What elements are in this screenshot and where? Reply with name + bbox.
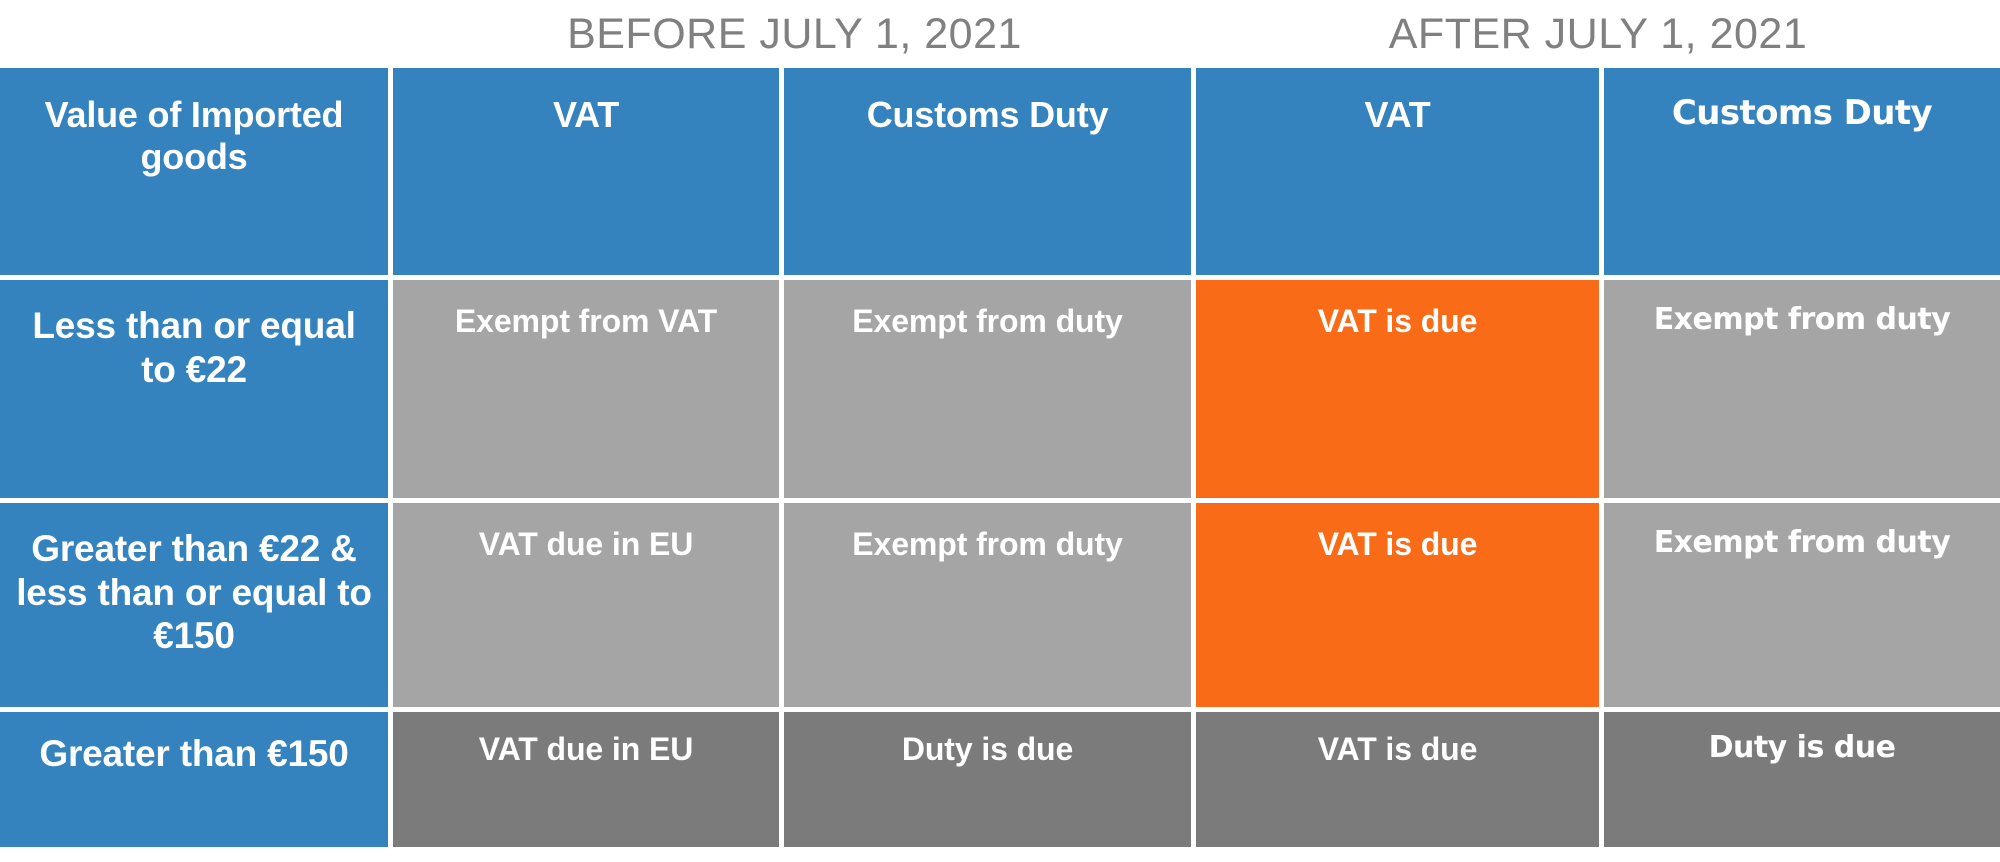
- table-cell: Exempt from VAT: [393, 280, 784, 503]
- group-header-after: AFTER JULY 1, 2021: [1196, 0, 2000, 68]
- cell-text: Exempt from duty: [1604, 280, 2000, 338]
- cell-text: VAT is due: [1196, 280, 1599, 340]
- table-row-label: Less than or equal to €22: [0, 280, 393, 503]
- column-header-label: Value of Imported goods: [0, 68, 388, 178]
- column-header-value-of-imported-goods: Value of Imported goods: [0, 68, 393, 280]
- table-cell: Exempt from duty: [784, 503, 1196, 712]
- table-cell: Duty is due: [784, 712, 1196, 853]
- column-header-customs-duty-after: Customs Duty: [1604, 68, 2000, 280]
- cell-text: Exempt from VAT: [393, 280, 779, 340]
- column-header-vat-after: VAT: [1196, 68, 1604, 280]
- cell-text: Exempt from duty: [1604, 503, 2000, 561]
- row-label-text: Greater than €150: [0, 712, 388, 776]
- table-cell-highlight: VAT is due: [1196, 280, 1604, 503]
- cell-text: VAT due in EU: [393, 712, 779, 768]
- row-label-text: Less than or equal to €22: [0, 280, 388, 391]
- cell-text: Exempt from duty: [784, 280, 1191, 340]
- table-row-label: Greater than €22 & less than or equal to…: [0, 503, 393, 712]
- table-cell: Exempt from duty: [1604, 280, 2000, 503]
- group-header-band: BEFORE JULY 1, 2021 AFTER JULY 1, 2021: [0, 0, 2000, 68]
- cell-text: Exempt from duty: [784, 503, 1191, 563]
- vat-customs-table: Value of Imported goods VAT Customs Duty…: [0, 68, 2000, 853]
- table-row-label: Greater than €150: [0, 712, 393, 853]
- column-header-customs-duty-before: Customs Duty: [784, 68, 1196, 280]
- column-header-label: Customs Duty: [1604, 68, 2000, 133]
- column-header-label: Customs Duty: [784, 68, 1191, 136]
- column-header-label: VAT: [1196, 68, 1599, 136]
- table-cell: VAT due in EU: [393, 503, 784, 712]
- cell-text: VAT is due: [1196, 503, 1599, 563]
- group-header-before: BEFORE JULY 1, 2021: [393, 0, 1196, 68]
- table-cell: VAT due in EU: [393, 712, 784, 853]
- table-cell: Exempt from duty: [784, 280, 1196, 503]
- table-cell: Exempt from duty: [1604, 503, 2000, 712]
- comparison-table-figure: BEFORE JULY 1, 2021 AFTER JULY 1, 2021 V…: [0, 0, 2000, 862]
- table-cell: VAT is due: [1196, 712, 1604, 853]
- column-header-vat-before: VAT: [393, 68, 784, 280]
- table-cell-highlight: VAT is due: [1196, 503, 1604, 712]
- column-header-label: VAT: [393, 68, 779, 136]
- cell-text: VAT due in EU: [393, 503, 779, 563]
- cell-text: Duty is due: [784, 712, 1191, 768]
- cell-text: Duty is due: [1604, 712, 2000, 766]
- row-label-text: Greater than €22 & less than or equal to…: [0, 503, 388, 658]
- cell-text: VAT is due: [1196, 712, 1599, 768]
- table-cell: Duty is due: [1604, 712, 2000, 853]
